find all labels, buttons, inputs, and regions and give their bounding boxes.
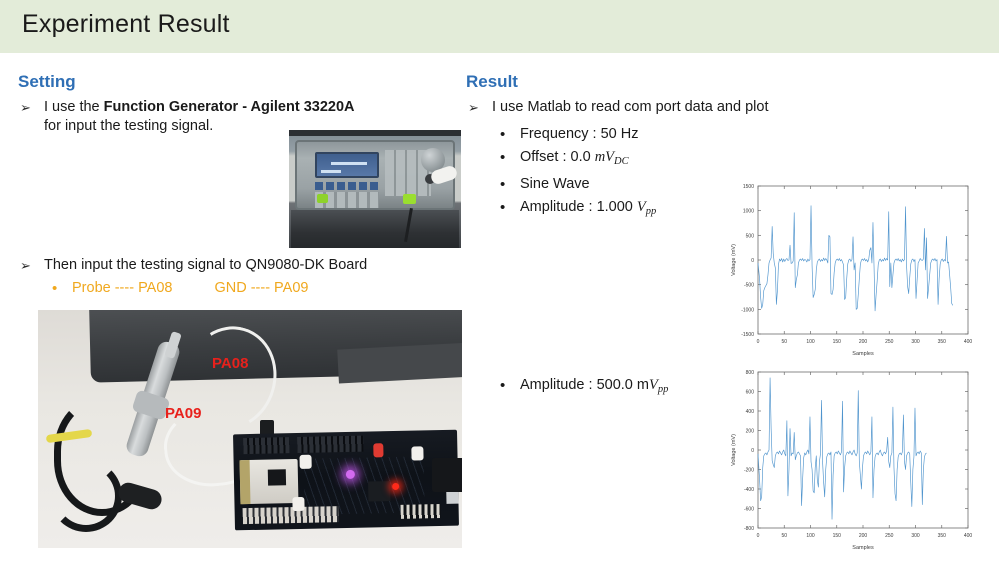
bd-reset-button	[373, 443, 383, 457]
setting-column: Setting ➢ I use the Function Generator -…	[18, 72, 468, 136]
slide-root: Experiment Result Setting ➢ I use the Fu…	[0, 0, 999, 562]
param-amplitude-1-text: Amplitude : 1.000	[520, 199, 637, 215]
matlab-plot-amplitude-1000-vpp: 050100150200250300350400-1500-1000-50005…	[728, 178, 974, 358]
x-tick-label: 400	[964, 339, 973, 345]
y-tick-label: 1000	[743, 209, 754, 215]
dot-bullet-icon-amp1: •	[500, 196, 505, 219]
fg-display-line-2	[321, 170, 341, 173]
fg-display-screen	[315, 152, 379, 178]
bd-dev-board	[233, 430, 459, 531]
chart2-svg: 050100150200250300350400-800-600-400-200…	[728, 364, 974, 552]
matlab-plot-amplitude-500-mvpp: 050100150200250300350400-800-600-400-200…	[728, 364, 974, 552]
dot-bullet-icon-wave: •	[500, 173, 505, 196]
param-amplitude-2: • Amplitude : 500.0 mVpp	[466, 374, 766, 401]
param-offset-text: Offset : 0.0	[520, 149, 595, 165]
bd-mcu-chip	[268, 469, 286, 485]
param-amplitude-2-text: Amplitude : 500.0 m	[520, 377, 649, 393]
arrow-bullet-icon: ➢	[20, 98, 31, 117]
arrow-bullet-icon-2: ➢	[20, 256, 31, 275]
x-tick-label: 0	[757, 339, 760, 345]
bd-usb-cable-end	[432, 458, 462, 492]
x-tick-label: 50	[781, 533, 787, 539]
result-bullet-1-text: I use Matlab to read com port data and p…	[492, 99, 768, 115]
bd-standoff-2	[292, 497, 304, 511]
bd-header-right	[297, 436, 363, 453]
page-title: Experiment Result	[22, 10, 230, 39]
param-amplitude-2-unit: V	[649, 377, 658, 393]
y-tick-label: 200	[746, 429, 755, 435]
setting-bullet-1-line2: for input the testing signal.	[44, 118, 213, 134]
fg-softkey-row	[315, 182, 379, 190]
annotation-label-pa08: PA08	[212, 355, 248, 372]
bd-monitor-edge	[337, 342, 462, 383]
dot-bullet-icon: •	[52, 277, 57, 300]
x-tick-label: 300	[911, 533, 920, 539]
bd-test-pads	[401, 504, 441, 519]
x-tick-label: 0	[757, 533, 760, 539]
bd-standoff-3	[411, 446, 423, 460]
y-tick-label: -400	[744, 487, 754, 493]
x-tick-label: 300	[911, 339, 920, 345]
pin-mapping-row: • Probe ---- PA08GND ---- PA09	[18, 277, 468, 300]
result-bullet-1: ➢ I use Matlab to read com port data and…	[466, 98, 986, 117]
param-frequency: • Frequency : 50 Hz	[466, 123, 986, 146]
x-tick-label: 350	[938, 533, 947, 539]
y-tick-label: 500	[746, 233, 755, 239]
y-tick-label: -500	[744, 283, 754, 289]
param-amplitude-2-unit-sub: pp	[658, 384, 669, 395]
chart1-svg: 050100150200250300350400-1500-1000-50005…	[728, 178, 974, 358]
x-tick-label: 150	[833, 339, 842, 345]
x-tick-label: 150	[833, 533, 842, 539]
bd-black-cable-loop-2	[50, 460, 122, 532]
arrow-bullet-icon-3: ➢	[468, 98, 479, 117]
dot-bullet-icon-amp2: •	[500, 374, 505, 397]
function-generator-model: Function Generator - Agilent 33220A	[104, 99, 355, 115]
bd-antenna	[240, 460, 251, 504]
param-amplitude-1-unit: V	[637, 199, 646, 215]
x-axis-label: Samples	[852, 351, 874, 357]
setting-bullet-2-block: ➢ Then input the testing signal to QN908…	[18, 256, 468, 300]
param-frequency-text: Frequency : 50 Hz	[520, 126, 638, 142]
y-tick-label: 1500	[743, 184, 754, 190]
gnd-pin-mapping: GND ---- PA09	[214, 280, 308, 296]
setting-heading: Setting	[18, 72, 468, 92]
param-waveform-text: Sine Wave	[520, 176, 590, 192]
setting-bullet-2-text: Then input the testing signal to QN9080-…	[44, 257, 367, 273]
probe-pin-mapping: Probe ---- PA08	[72, 280, 172, 296]
bd-power-led	[392, 483, 399, 490]
param-offset-unit-sub: DC	[614, 156, 629, 167]
bd-header-left	[243, 437, 289, 454]
x-tick-label: 200	[859, 533, 868, 539]
param-amplitude-1-unit-sub: pp	[646, 206, 657, 217]
y-tick-label: 600	[746, 390, 755, 396]
param-offset-unit: mV	[595, 149, 614, 165]
x-tick-label: 250	[885, 339, 894, 345]
y-axis-label: Voltage (mV)	[731, 244, 737, 276]
y-axis-label: Voltage (mV)	[731, 434, 737, 466]
annotation-label-pa09: PA09	[165, 405, 201, 422]
x-axis-label: Samples	[852, 545, 874, 551]
y-tick-label: 800	[746, 370, 755, 376]
x-tick-label: 200	[859, 339, 868, 345]
y-tick-label: -1000	[741, 307, 754, 313]
fg-desk-base	[291, 210, 459, 248]
param-offset: • Offset : 0.0 mVDC	[466, 146, 986, 173]
x-tick-label: 250	[885, 533, 894, 539]
qn9080-dk-board-photo	[38, 310, 462, 548]
x-tick-label: 400	[964, 533, 973, 539]
agilent-33220a-function-generator-photo	[289, 130, 461, 248]
setting-bullet-1-line1-pre: I use the	[44, 99, 104, 115]
x-tick-label: 100	[806, 533, 815, 539]
y-tick-label: -600	[744, 507, 754, 513]
fg-display-line-1	[331, 162, 367, 165]
y-tick-label: -800	[744, 526, 754, 532]
x-tick-label: 100	[806, 339, 815, 345]
bd-standoff-1	[299, 455, 311, 469]
bd-debug-chip	[368, 481, 390, 501]
dot-bullet-icon-offset: •	[500, 146, 505, 169]
dot-bullet-icon-freq: •	[500, 123, 505, 146]
setting-bullet-2: ➢ Then input the testing signal to QN908…	[18, 256, 468, 275]
y-tick-label: 0	[751, 258, 754, 264]
y-tick-label: 400	[746, 409, 755, 415]
y-tick-label: -200	[744, 468, 754, 474]
x-tick-label: 50	[781, 339, 787, 345]
fg-green-button-left	[317, 194, 328, 203]
bd-bottom-header	[243, 506, 339, 524]
result-heading: Result	[466, 72, 986, 92]
y-tick-label: -1500	[741, 332, 754, 338]
fg-green-button-right	[403, 194, 416, 204]
y-tick-label: 0	[751, 448, 754, 454]
x-tick-label: 350	[938, 339, 947, 345]
